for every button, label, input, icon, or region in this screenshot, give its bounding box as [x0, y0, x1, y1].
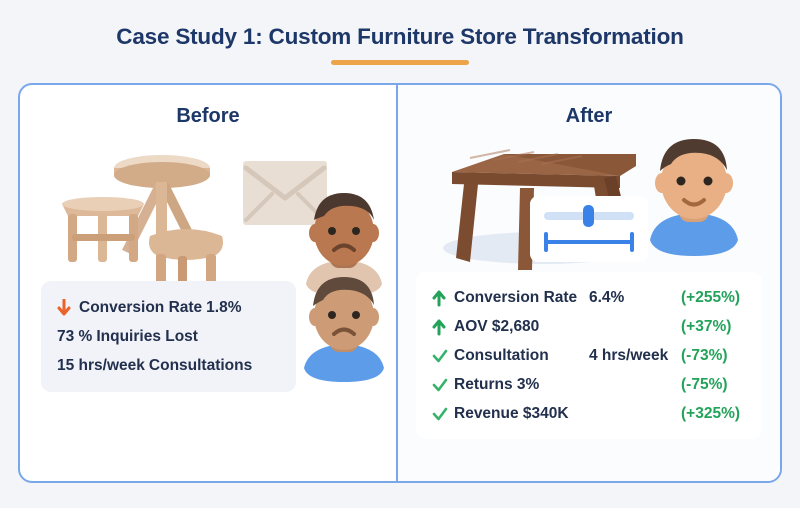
unhappy-person-avatar-secondary: [296, 272, 392, 384]
wooden-furniture-group-icon: [52, 146, 262, 296]
before-metric-row: 15 hrs/week Consultations: [41, 351, 296, 380]
before-metric-label-2: 73 %: [57, 328, 92, 346]
check-icon: [432, 348, 454, 364]
comparison-card: Before: [18, 83, 782, 483]
before-metric-label-3: 15 hrs/week: [57, 357, 145, 375]
after-metric-delta-5: (+325%): [681, 405, 740, 423]
after-metric-delta-1: (+255%): [681, 289, 740, 307]
before-metric-value-2: Inquiries Lost: [96, 328, 198, 346]
after-metric-value-3: 4 hrs/week: [589, 347, 681, 365]
before-metric-label-1: Conversion Rate: [79, 299, 202, 317]
after-metric-row: AOV $2,680 (+37%): [416, 312, 762, 341]
after-metric-row: Revenue $340K (+325%): [416, 399, 762, 428]
before-metric-value-3: Consultations: [149, 357, 252, 375]
after-heading: After: [398, 105, 780, 128]
before-metric-row: 73 % Inquiries Lost: [41, 322, 296, 351]
before-metrics-card: Conversion Rate 1.8% 73 % Inquiries Lost…: [41, 281, 296, 392]
check-icon: [432, 406, 454, 422]
title-underline-rule: [331, 60, 469, 65]
check-icon: [432, 377, 454, 393]
happy-person-avatar: [642, 134, 746, 258]
page-title: Case Study 1: Custom Furniture Store Tra…: [0, 24, 800, 50]
after-metric-label-2: AOV $2,680: [454, 318, 589, 336]
before-metric-row: Conversion Rate 1.8%: [41, 293, 296, 322]
arrow-down-icon: [57, 299, 79, 317]
page-header: Case Study 1: Custom Furniture Store Tra…: [0, 24, 800, 65]
after-metric-delta-2: (+37%): [681, 318, 731, 336]
slider-control-card[interactable]: [530, 196, 648, 262]
after-metric-row: Returns 3% (-75%): [416, 370, 762, 399]
before-heading: Before: [20, 105, 396, 128]
after-panel: After: [398, 85, 780, 481]
arrow-up-icon: [432, 289, 454, 307]
after-metric-label-5: Revenue $340K: [454, 405, 589, 423]
after-metric-row: Conversion Rate 6.4% (+255%): [416, 283, 762, 312]
before-panel: Before: [20, 85, 396, 481]
arrow-up-icon: [432, 318, 454, 336]
before-metric-value-1: 1.8%: [206, 299, 241, 317]
after-metric-row: Consultation 4 hrs/week (-73%): [416, 341, 762, 370]
after-metric-label-4: Returns 3%: [454, 376, 589, 394]
after-metric-label-1: Conversion Rate: [454, 289, 589, 307]
after-metric-delta-3: (-73%): [681, 347, 728, 365]
after-metrics-card: Conversion Rate 6.4% (+255%) AOV $2,680 …: [416, 272, 762, 439]
after-metric-label-3: Consultation: [454, 347, 589, 365]
after-metric-delta-4: (-75%): [681, 376, 728, 394]
after-metric-value-1: 6.4%: [589, 289, 681, 307]
